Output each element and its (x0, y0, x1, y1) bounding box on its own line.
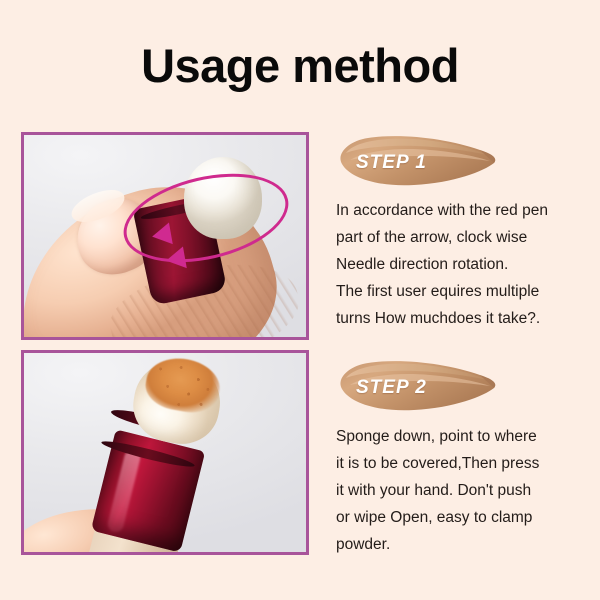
step-badge-label: STEP 2 (356, 377, 427, 399)
rotation-arrow-icon (150, 223, 173, 248)
photo-frame-step-2 (21, 350, 309, 555)
step-badge-1: STEP 1 (334, 130, 504, 188)
step-badge-label: STEP 1 (356, 152, 427, 174)
step-badge-2: STEP 2 (334, 355, 504, 413)
step-1-body-text: In accordance with the red pen part of t… (336, 197, 586, 332)
step-2-body-text: Sponge down, point to where it is to be … (336, 423, 586, 558)
photo-powder-loaded-sponge (24, 353, 306, 552)
page-title: Usage method (0, 38, 600, 94)
photo-rotate-applicator (24, 135, 306, 337)
usage-method-infographic: Usage method (0, 0, 600, 600)
rotation-arrow-icon (164, 247, 187, 272)
photo-frame-step-1 (21, 132, 309, 340)
